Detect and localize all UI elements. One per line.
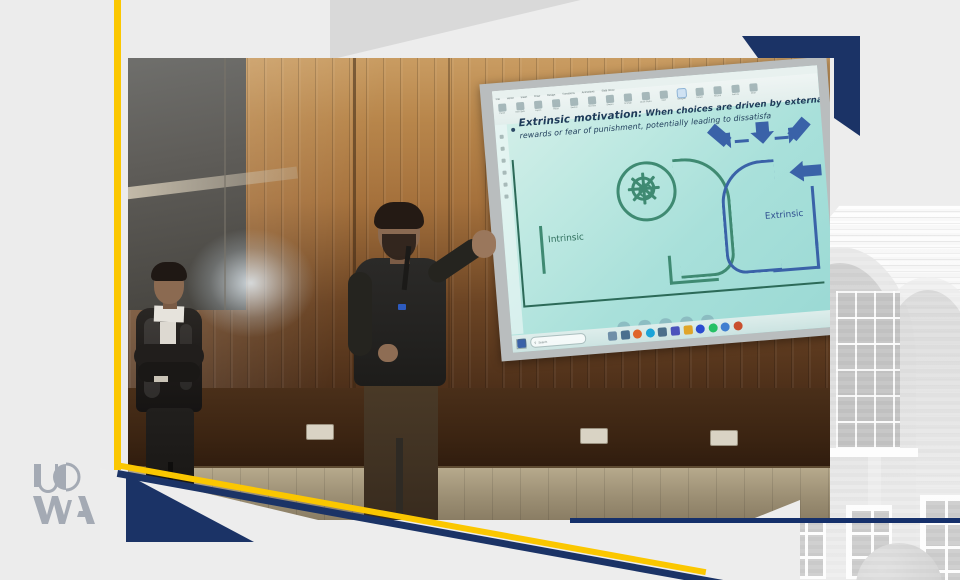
badge xyxy=(398,304,406,310)
event-photo: File Home Insert Draw Design Transitions… xyxy=(128,58,830,520)
ribbon-button[interactable]: Paste xyxy=(495,103,509,115)
ribbon-tab[interactable]: Home xyxy=(507,97,514,101)
ribbon-button[interactable]: Designer xyxy=(674,89,688,101)
powerpoint-icon[interactable] xyxy=(733,321,743,331)
ribbon-button[interactable]: Shapes xyxy=(603,95,617,107)
ribbon-button[interactable]: Quick Styles xyxy=(639,92,653,104)
file-explorer-icon[interactable] xyxy=(620,330,630,340)
ribbon-tab[interactable]: Design xyxy=(547,93,555,97)
ribbon-button[interactable]: New Slide xyxy=(513,102,527,114)
whatsapp-icon[interactable] xyxy=(708,323,718,333)
paste-icon xyxy=(498,103,507,112)
presenter-person xyxy=(338,206,490,520)
ribbon-button[interactable]: Draw xyxy=(746,83,760,95)
section-icon xyxy=(569,98,578,107)
ribbon-button[interactable]: Section xyxy=(567,97,581,109)
edge-icon[interactable] xyxy=(645,328,655,338)
ribbon-tab[interactable]: Transitions xyxy=(562,92,575,96)
firefox-icon[interactable] xyxy=(633,329,643,339)
ribbon-button[interactable]: Add-ins xyxy=(728,84,742,96)
layout-icon xyxy=(533,100,542,109)
extrinsic-label: Extrinsic xyxy=(765,209,804,222)
projection-screen: File Home Insert Draw Design Transitions… xyxy=(479,58,830,362)
ribbon-tab[interactable]: Draw xyxy=(534,95,540,98)
camera-icon[interactable] xyxy=(658,327,668,337)
chrome-icon[interactable] xyxy=(721,322,731,332)
slide-canvas: File Home Insert Draw Design Transitions… xyxy=(0,0,960,580)
new-slide-icon xyxy=(515,102,524,111)
yellow-vertical-accent xyxy=(114,0,121,470)
background-gray-wedge xyxy=(330,0,590,60)
taskbar-search-box[interactable]: ⚲ Search xyxy=(530,333,587,348)
face-neck-blue xyxy=(771,240,820,273)
record-icon xyxy=(713,86,722,95)
intrinsic-divider xyxy=(539,226,546,274)
search-placeholder: Search xyxy=(538,339,547,344)
word-icon[interactable] xyxy=(696,324,706,334)
bullet-point-icon xyxy=(511,128,515,132)
ribbon-button[interactable]: Arrange xyxy=(621,93,635,105)
wall-socket xyxy=(710,430,738,446)
ribbon-tab[interactable]: Insert xyxy=(521,96,528,100)
ribbon-tab[interactable]: Animations xyxy=(582,90,595,94)
slide-status-indicator xyxy=(516,338,527,349)
face-neck-green xyxy=(668,252,719,285)
search-icon: ⚲ xyxy=(534,340,536,344)
quick-styles-icon xyxy=(641,92,650,101)
reset-icon xyxy=(551,99,560,108)
ribbon-button[interactable]: Text Box xyxy=(585,96,599,108)
gesturing-hand xyxy=(472,230,496,258)
uowa-logo xyxy=(30,458,102,530)
motivation-diagram: Intrinsic Extrinsic xyxy=(511,128,830,324)
ribbon-button[interactable]: Find xyxy=(657,90,671,102)
ribbon-button[interactable]: Reset xyxy=(549,99,563,111)
ribbon-button[interactable]: Dictate xyxy=(692,87,706,99)
designer-icon xyxy=(677,89,686,98)
teams-icon[interactable] xyxy=(670,326,680,336)
folder-icon[interactable] xyxy=(683,325,693,335)
ribbon-tab[interactable]: File xyxy=(496,98,500,101)
arrange-icon xyxy=(623,93,632,102)
draw-icon xyxy=(749,83,758,92)
widgets-icon[interactable] xyxy=(608,331,618,341)
ribbon-button[interactable]: Record xyxy=(710,86,724,98)
extrinsic-divider xyxy=(811,186,819,248)
wall-socket xyxy=(580,428,608,444)
dictate-icon xyxy=(695,87,704,96)
add-ins-icon xyxy=(731,85,740,94)
find-icon xyxy=(659,90,668,99)
navy-baseline-rule xyxy=(570,518,960,523)
shapes-icon xyxy=(605,95,614,104)
observer-person xyxy=(132,266,216,514)
ribbon-button[interactable]: Layout xyxy=(531,100,545,112)
text-box-icon xyxy=(587,96,596,105)
wall-socket xyxy=(306,424,334,440)
intrinsic-label: Intrinsic xyxy=(548,233,585,246)
ribbon-tab[interactable]: Slide Show xyxy=(601,89,614,93)
